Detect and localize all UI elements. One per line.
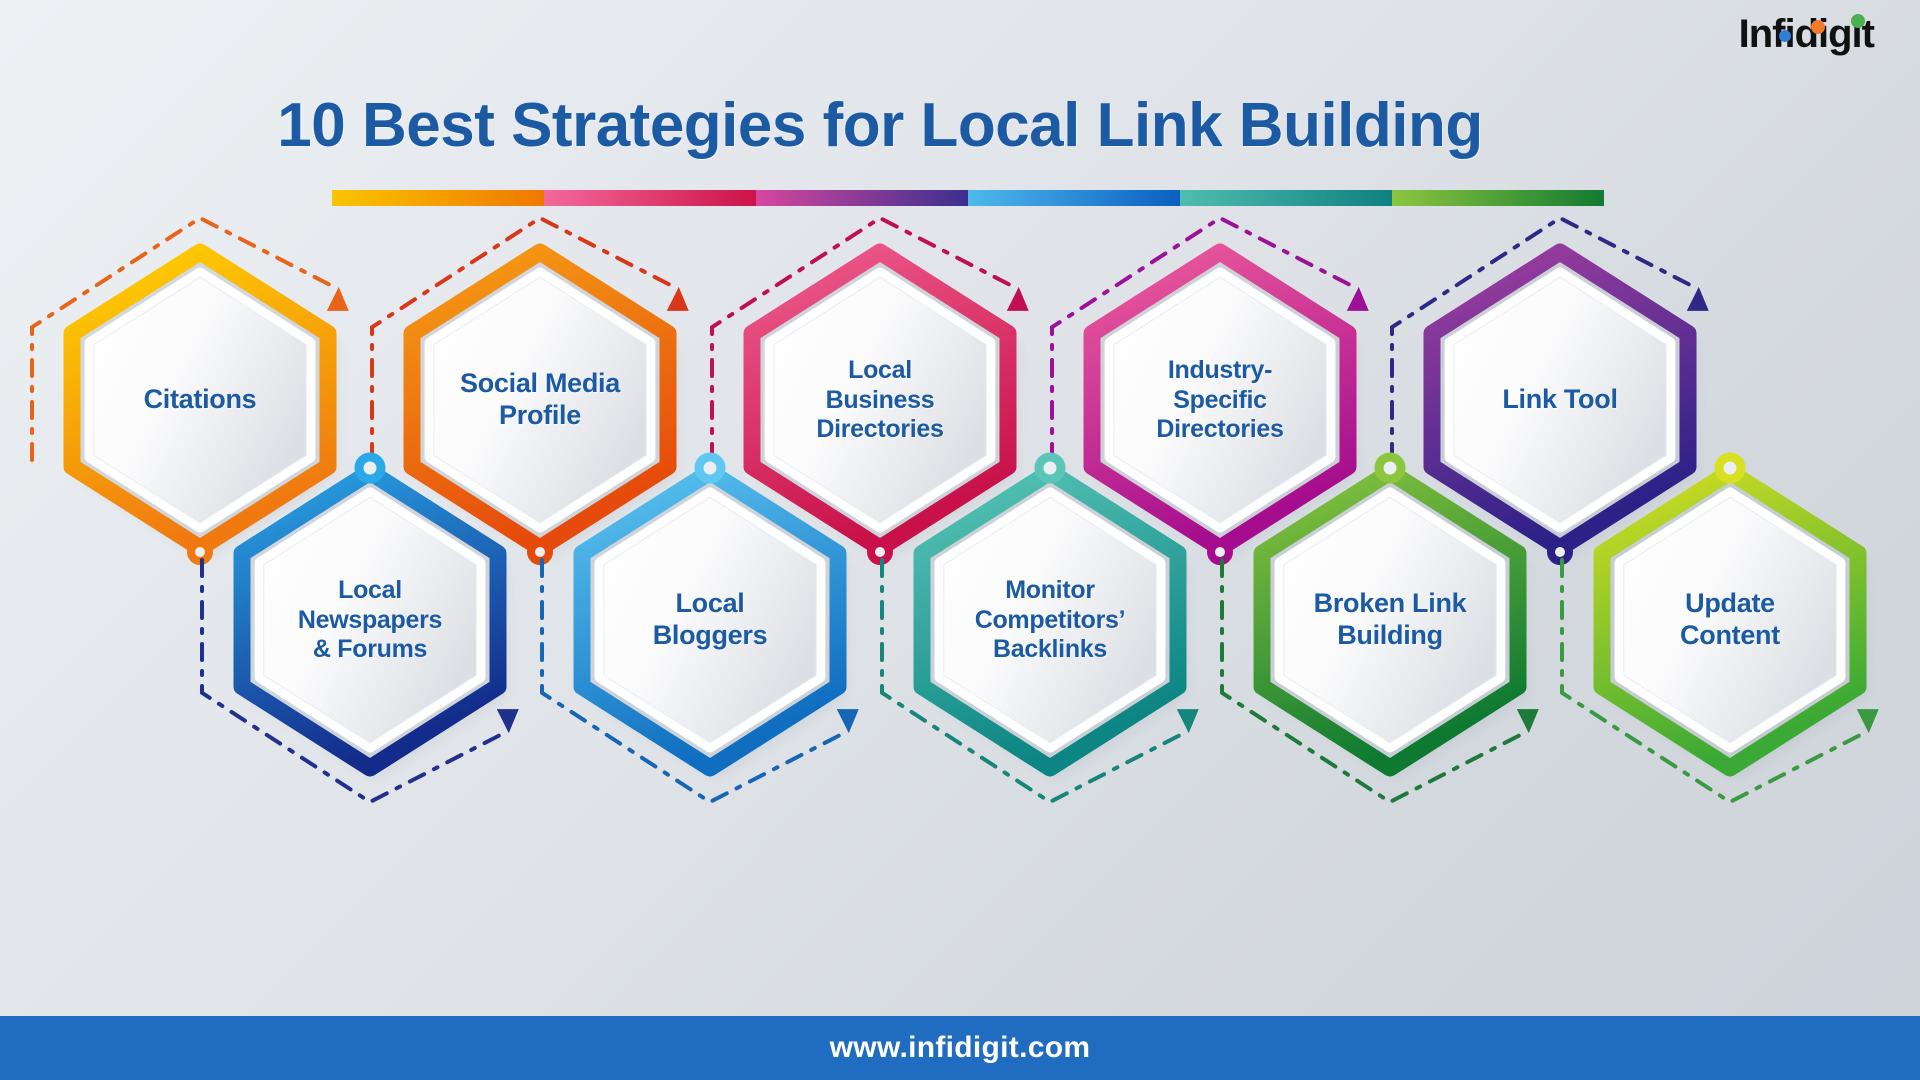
connector-knob-icon (359, 457, 381, 479)
hex-node-7[interactable]: Local Bloggers (570, 470, 850, 770)
flow-arrow-icon (667, 287, 689, 311)
footer-bar: www.infidigit.com (0, 1016, 1920, 1080)
hex-node-10[interactable]: Update Content (1590, 470, 1870, 770)
hex-shape (230, 470, 510, 770)
flow-arrow-icon (1517, 709, 1539, 733)
flow-arrow-icon (1857, 709, 1879, 733)
connector-knob-icon (699, 457, 721, 479)
connector-knob-icon (1551, 543, 1569, 561)
connector-knob-icon (1719, 457, 1741, 479)
hex-node-9[interactable]: Broken Link Building (1250, 470, 1530, 770)
hex-shape (1590, 470, 1870, 770)
flow-arrow-icon (1177, 709, 1199, 733)
connector-knob-icon (871, 543, 889, 561)
hex-node-8[interactable]: Monitor Competitors’ Backlinks (910, 470, 1190, 770)
hex-shape (570, 470, 850, 770)
infographic-canvas: Infidigit 10 Best Strategies for Local L… (0, 0, 1920, 1080)
connector-knob-icon (531, 543, 549, 561)
flow-arrow-icon (327, 287, 349, 311)
flow-arrow-icon (497, 709, 519, 733)
flow-arrow-icon (1347, 287, 1369, 311)
connector-knob-icon (1379, 457, 1401, 479)
hex-shape (910, 470, 1190, 770)
connector-knob-icon (191, 543, 209, 561)
flow-arrow-icon (1007, 287, 1029, 311)
connector-knob-icon (1039, 457, 1061, 479)
flow-arrow-icon (1687, 287, 1709, 311)
hex-node-6[interactable]: Local Newspapers & Forums (230, 470, 510, 770)
hex-shape (1250, 470, 1530, 770)
connector-knob-icon (1211, 543, 1229, 561)
hexagon-grid: CitationsSocial Media ProfileLocal Busin… (0, 0, 1920, 1080)
flow-arrow-icon (837, 709, 859, 733)
footer-url[interactable]: www.infidigit.com (830, 1031, 1091, 1065)
